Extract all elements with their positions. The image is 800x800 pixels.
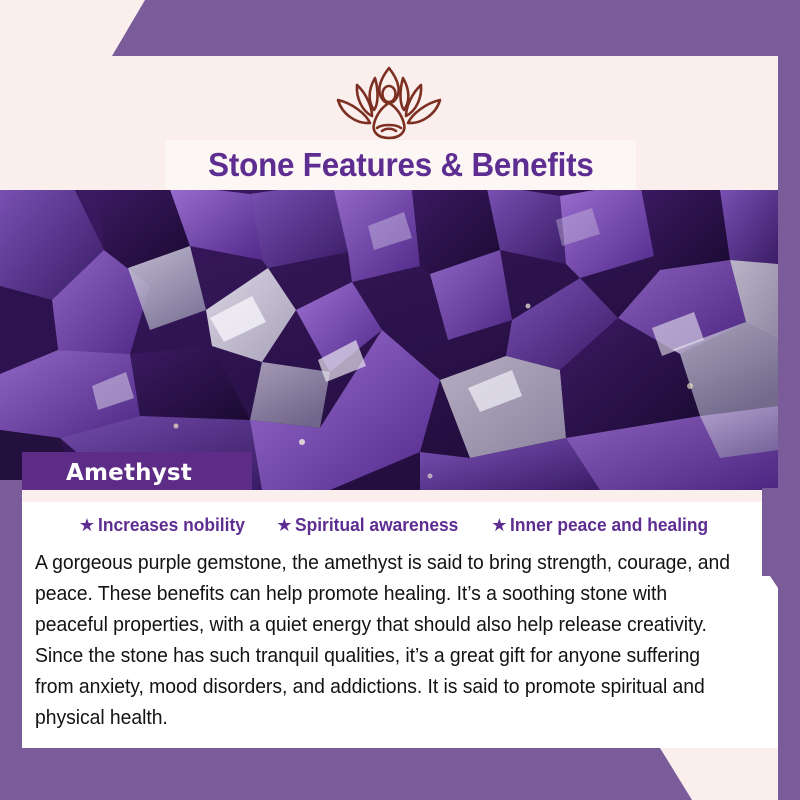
benefit-label: Inner peace and healing	[510, 514, 708, 536]
benefit-item: ★ Inner peace and healing	[491, 514, 721, 536]
frame-top-band	[0, 0, 800, 56]
star-icon: ★	[491, 516, 507, 534]
benefit-item: ★ Increases nobility	[79, 514, 254, 536]
benefits-list: ★ Increases nobility ★ Spiritual awarene…	[22, 514, 778, 536]
star-icon: ★	[79, 516, 95, 534]
amethyst-crystal-illustration	[0, 190, 778, 490]
stone-details-card: ★ Increases nobility ★ Spiritual awarene…	[22, 490, 778, 748]
card-top-strip	[22, 490, 778, 502]
benefit-item: ★ Spiritual awareness	[276, 514, 469, 536]
stone-name-banner: Amethyst	[22, 452, 252, 494]
frame-right-tab	[762, 488, 778, 588]
frame-left-band	[0, 480, 22, 800]
benefit-label: Spiritual awareness	[295, 514, 458, 536]
product-info-poster: BUDDHA STONES Stone Features & Benefits …	[0, 0, 800, 800]
lotus-meditation-icon	[314, 62, 464, 144]
frame-right-band	[778, 0, 800, 800]
page-title-plate: Stone Features & Benefits	[166, 140, 636, 190]
benefit-label: Increases nobility	[98, 514, 245, 536]
stone-name: Amethyst	[66, 460, 192, 486]
star-icon: ★	[276, 516, 292, 534]
stone-description: A gorgeous purple gemstone, the amethyst…	[35, 548, 744, 734]
frame-bottom-band	[0, 748, 800, 800]
amethyst-photo	[0, 190, 778, 490]
page-title: Stone Features & Benefits	[208, 146, 593, 184]
